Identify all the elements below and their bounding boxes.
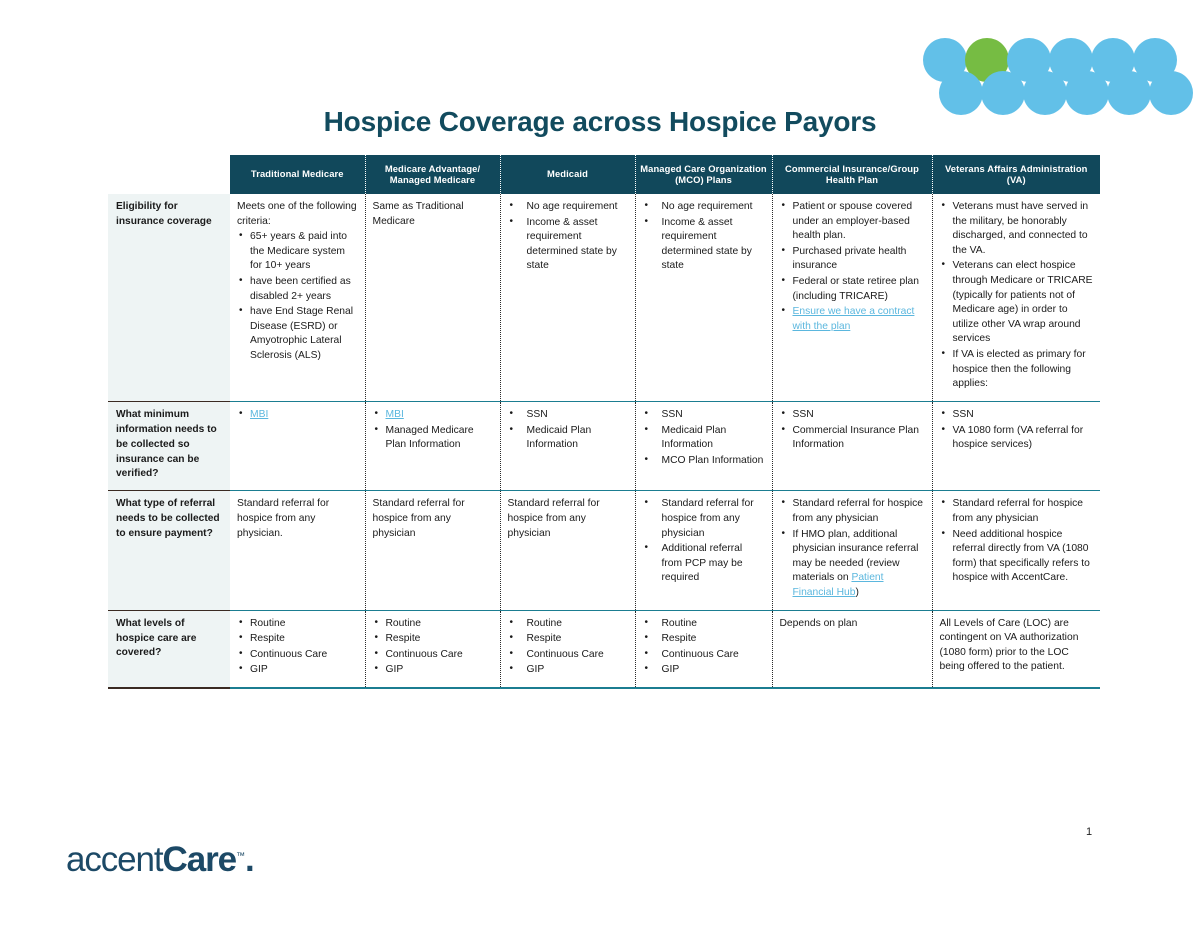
list-item: GIP [250, 663, 358, 678]
column-header-va: Veterans Affairs Administration (VA) [932, 155, 1100, 194]
cell-lead-text: Meets one of the following criteria: [237, 200, 358, 229]
bullet-list: No age requirement Income & asset requir… [643, 200, 765, 274]
cell-levels-va: All Levels of Care (LOC) are contingent … [932, 610, 1100, 688]
cell-mininfo-medicaid: SSN Medicaid Plan Information [500, 401, 635, 490]
list-item: Income & asset requirement determined st… [662, 216, 765, 274]
cell-mininfo-traditional-medicare: MBI [230, 401, 365, 490]
list-item-link: MBI [386, 408, 493, 423]
cell-referral-medicaid: Standard referral for hospice from any p… [500, 491, 635, 610]
hospice-coverage-table: Traditional Medicare Medicare Advantage/… [108, 155, 1100, 689]
list-item-link: Ensure we have a contract with the plan [793, 305, 925, 334]
list-item: Patient or spouse covered under an emplo… [793, 200, 925, 244]
cell-eligibility-va: Veterans must have served in the militar… [932, 194, 1100, 401]
bullet-list: Routine Respite Continuous Care GIP [643, 617, 765, 678]
bullet-list: Standard referral for hospice from any p… [780, 497, 925, 600]
bullet-list: No age requirement Income & asset requir… [508, 200, 628, 274]
list-item: Purchased private health insurance [793, 245, 925, 274]
link-mbi[interactable]: MBI [386, 409, 404, 420]
cell-text: Depends on plan [780, 617, 925, 632]
row-label-referral-type: What type of referral needs to be collec… [108, 491, 230, 610]
list-item: GIP [527, 663, 628, 678]
list-item: SSN [953, 408, 1094, 423]
bullet-list: Standard referral for hospice from any p… [643, 497, 765, 586]
list-item: SSN [662, 408, 765, 423]
list-item: Routine [527, 617, 628, 632]
list-item: 65+ years & paid into the Medicare syste… [250, 230, 358, 274]
cell-eligibility-medicaid: No age requirement Income & asset requir… [500, 194, 635, 401]
row-label-levels-of-care: What levels of hospice care are covered? [108, 610, 230, 688]
list-item: SSN [793, 408, 925, 423]
list-item: Continuous Care [662, 648, 765, 663]
list-item: Veterans must have served in the militar… [953, 200, 1094, 258]
column-header-medicare-advantage: Medicare Advantage/ Managed Medicare [365, 155, 500, 194]
list-item: Routine [250, 617, 358, 632]
list-item: GIP [386, 663, 493, 678]
cell-mininfo-va: SSN VA 1080 form (VA referral for hospic… [932, 401, 1100, 490]
list-item: Managed Medicare Plan Information [386, 424, 493, 453]
list-item: No age requirement [662, 200, 765, 215]
bullet-list: 65+ years & paid into the Medicare syste… [237, 230, 358, 363]
list-item: GIP [662, 663, 765, 678]
bullet-list: Veterans must have served in the militar… [940, 200, 1094, 392]
logo-accent-text: accent [66, 840, 163, 879]
link-contract-with-plan[interactable]: Ensure we have a contract with the plan [793, 306, 915, 332]
cell-text: Same as Traditional Medicare [373, 200, 493, 229]
list-item: Federal or state retiree plan (including… [793, 275, 925, 304]
cell-levels-traditional-medicare: Routine Respite Continuous Care GIP [230, 610, 365, 688]
bullet-list: SSN Medicaid Plan Information MCO Plan I… [643, 408, 765, 468]
list-item: If VA is elected as primary for hospice … [953, 348, 1094, 392]
cell-text: All Levels of Care (LOC) are contingent … [940, 617, 1094, 675]
table-row: Eligibility for insurance coverage Meets… [108, 194, 1100, 401]
list-item: Additional referral from PCP may be requ… [662, 542, 765, 586]
cell-mininfo-commercial: SSN Commercial Insurance Plan Informatio… [772, 401, 932, 490]
list-item-link: MBI [250, 408, 358, 423]
column-header-traditional-medicare: Traditional Medicare [230, 155, 365, 194]
list-item: No age requirement [527, 200, 628, 215]
cell-text: Standard referral for hospice from any p… [373, 497, 493, 541]
cell-levels-medicaid: Routine Respite Continuous Care GIP [500, 610, 635, 688]
cell-eligibility-traditional-medicare: Meets one of the following criteria: 65+… [230, 194, 365, 401]
list-item: Standard referral for hospice from any p… [793, 497, 925, 526]
bullet-list: Routine Respite Continuous Care GIP [508, 617, 628, 678]
accentcare-logo: accentCare™. [66, 840, 254, 880]
cell-referral-traditional-medicare: Standard referral for hospice from any p… [230, 491, 365, 610]
cell-referral-commercial: Standard referral for hospice from any p… [772, 491, 932, 610]
cell-eligibility-mco: No age requirement Income & asset requir… [635, 194, 772, 401]
list-item: MCO Plan Information [662, 454, 765, 469]
cell-eligibility-medicare-advantage: Same as Traditional Medicare [365, 194, 500, 401]
column-header-medicaid: Medicaid [500, 155, 635, 194]
bullet-list: SSN Commercial Insurance Plan Informatio… [780, 408, 925, 453]
bullet-list: Standard referral for hospice from any p… [940, 497, 1094, 586]
list-item: Routine [386, 617, 493, 632]
hmo-suffix-text: ) [855, 587, 858, 598]
logo-trademark: ™ [236, 850, 245, 860]
list-item: Respite [250, 632, 358, 647]
row-label-minimum-information: What minimum information needs to be col… [108, 401, 230, 490]
cell-mininfo-mco: SSN Medicaid Plan Information MCO Plan I… [635, 401, 772, 490]
list-item-hmo: If HMO plan, additional physician insura… [793, 528, 925, 601]
cell-levels-commercial: Depends on plan [772, 610, 932, 688]
list-item: Routine [662, 617, 765, 632]
table-row: What minimum information needs to be col… [108, 401, 1100, 490]
column-header-commercial: Commercial Insurance/Group Health Plan [772, 155, 932, 194]
list-item: have been certified as disabled 2+ years [250, 275, 358, 304]
page-number: 1 [1086, 826, 1092, 838]
table-corner-cell [108, 155, 230, 194]
link-mbi[interactable]: MBI [250, 409, 268, 420]
list-item: Medicaid Plan Information [662, 424, 765, 453]
cell-text: Standard referral for hospice from any p… [508, 497, 628, 541]
bullet-list: MBI Managed Medicare Plan Information [373, 408, 493, 453]
list-item: Standard referral for hospice from any p… [662, 497, 765, 541]
row-label-eligibility: Eligibility for insurance coverage [108, 194, 230, 401]
list-item: Need additional hospice referral directl… [953, 528, 1094, 586]
bullet-list: Patient or spouse covered under an emplo… [780, 200, 925, 334]
list-item: Income & asset requirement determined st… [527, 216, 628, 274]
cell-levels-mco: Routine Respite Continuous Care GIP [635, 610, 772, 688]
cell-text: Standard referral for hospice from any p… [237, 497, 358, 541]
list-item: Medicaid Plan Information [527, 424, 628, 453]
logo-period: . [245, 840, 254, 879]
logo-care-text: Care [163, 840, 236, 879]
list-item: Standard referral for hospice from any p… [953, 497, 1094, 526]
bullet-list: MBI [237, 408, 358, 423]
list-item: Commercial Insurance Plan Information [793, 424, 925, 453]
list-item: Respite [662, 632, 765, 647]
bullet-list: Routine Respite Continuous Care GIP [237, 617, 358, 678]
cell-eligibility-commercial: Patient or spouse covered under an emplo… [772, 194, 932, 401]
cell-referral-va: Standard referral for hospice from any p… [932, 491, 1100, 610]
bullet-list: SSN Medicaid Plan Information [508, 408, 628, 453]
list-item: Continuous Care [527, 648, 628, 663]
list-item: Respite [386, 632, 493, 647]
list-item: Veterans can elect hospice through Medic… [953, 259, 1094, 347]
table-row: What levels of hospice care are covered?… [108, 610, 1100, 688]
page-title: Hospice Coverage across Hospice Payors [0, 106, 1200, 138]
list-item: Respite [527, 632, 628, 647]
bullet-list: SSN VA 1080 form (VA referral for hospic… [940, 408, 1094, 453]
list-item: have End Stage Renal Disease (ESRD) or A… [250, 305, 358, 363]
table-row: What type of referral needs to be collec… [108, 491, 1100, 610]
cell-referral-medicare-advantage: Standard referral for hospice from any p… [365, 491, 500, 610]
column-header-mco: Managed Care Organization (MCO) Plans [635, 155, 772, 194]
list-item: Continuous Care [386, 648, 493, 663]
bullet-list: Routine Respite Continuous Care GIP [373, 617, 493, 678]
table-header-row: Traditional Medicare Medicare Advantage/… [108, 155, 1100, 194]
cell-mininfo-medicare-advantage: MBI Managed Medicare Plan Information [365, 401, 500, 490]
list-item: VA 1080 form (VA referral for hospice se… [953, 424, 1094, 453]
list-item: SSN [527, 408, 628, 423]
cell-levels-medicare-advantage: Routine Respite Continuous Care GIP [365, 610, 500, 688]
cell-referral-mco: Standard referral for hospice from any p… [635, 491, 772, 610]
list-item: Continuous Care [250, 648, 358, 663]
